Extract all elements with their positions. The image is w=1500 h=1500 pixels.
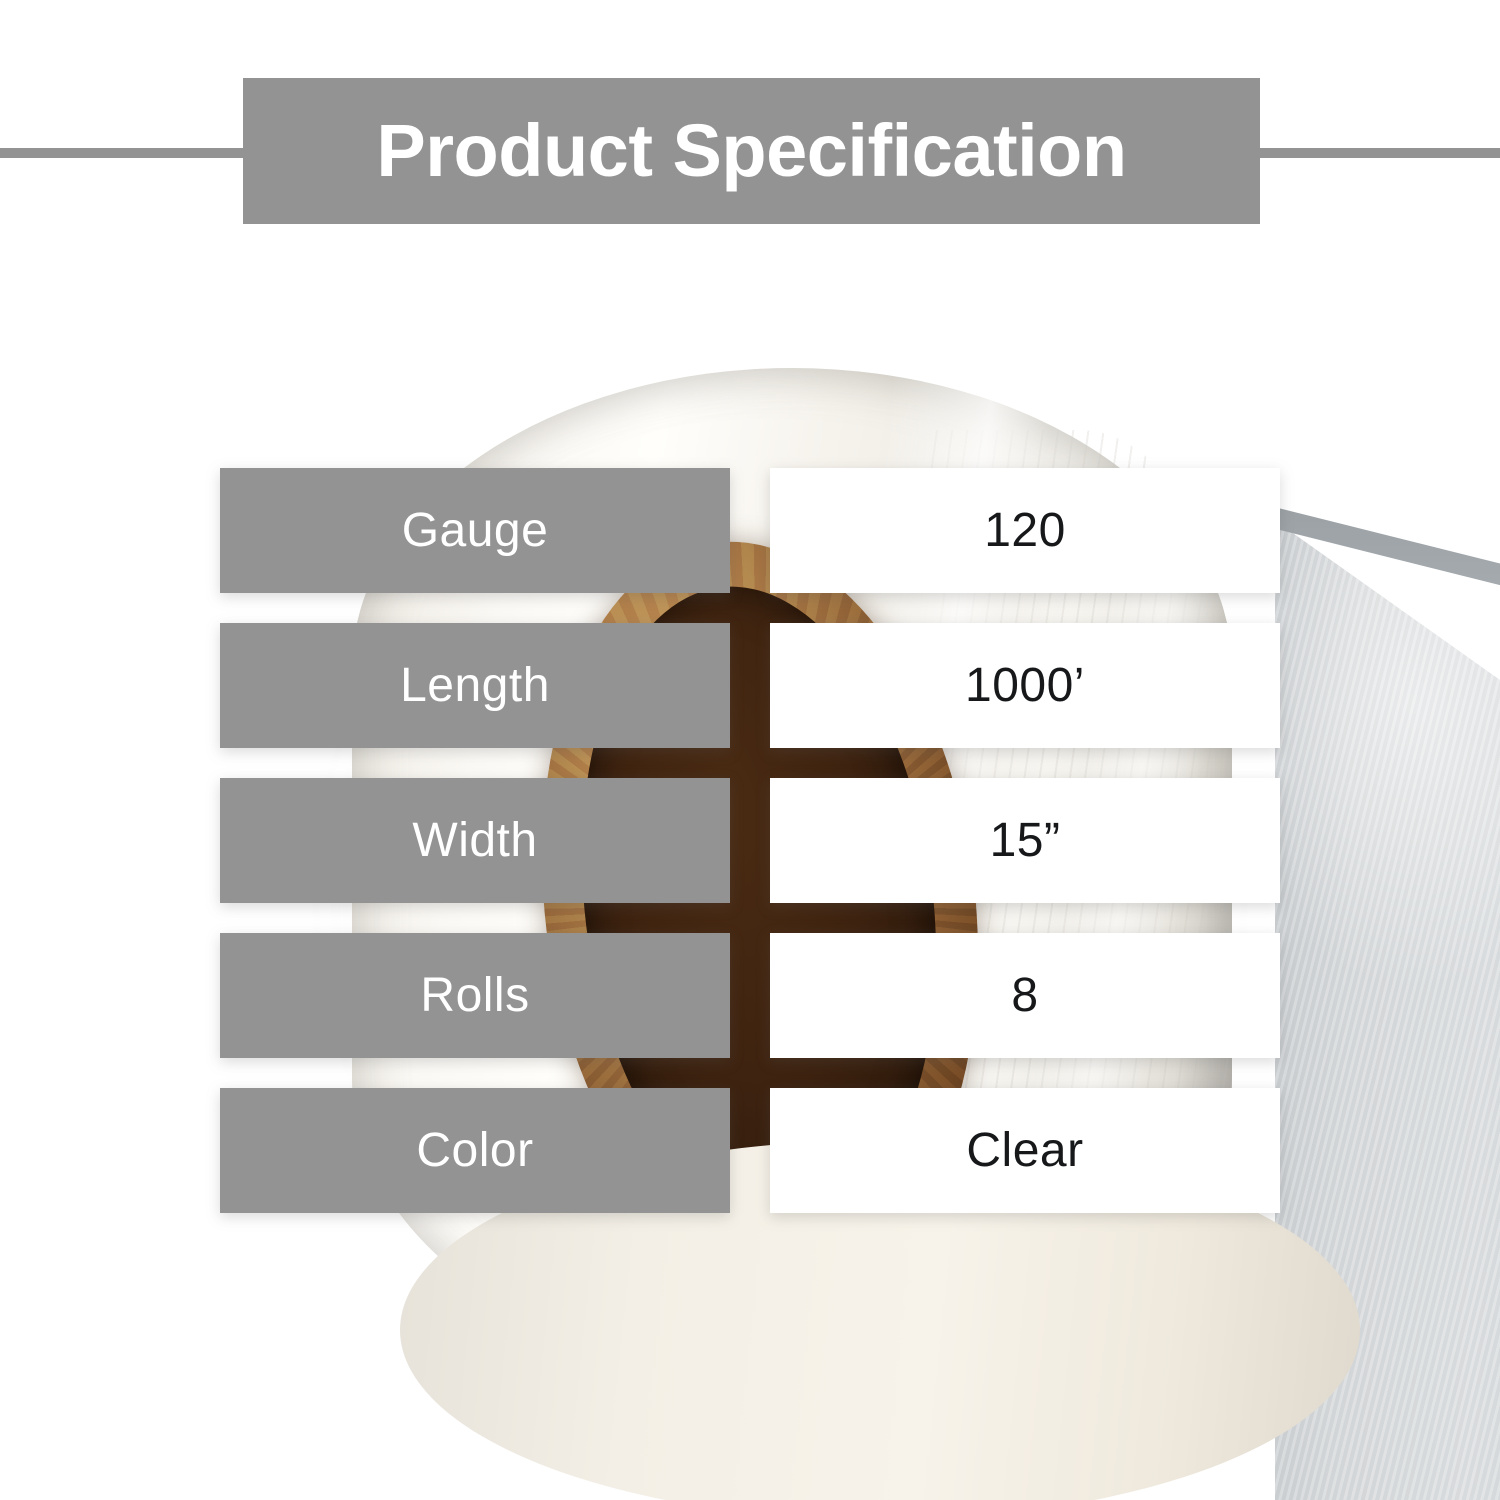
backdrop-roll-edge xyxy=(1275,500,1500,860)
page-title: Product Specification xyxy=(376,114,1126,188)
spec-value-gauge: 120 xyxy=(770,468,1280,593)
spec-value-length: 1000’ xyxy=(770,623,1280,748)
table-row: Rolls 8 xyxy=(220,933,1280,1058)
row-gap xyxy=(730,933,770,1058)
row-gap xyxy=(730,1088,770,1213)
spec-value-width: 15” xyxy=(770,778,1280,903)
title-banner: Product Specification xyxy=(243,78,1260,224)
spec-label-width: Width xyxy=(220,778,730,903)
spec-sheet-canvas: Product Specification Gauge 120 Length 1… xyxy=(0,0,1500,1500)
spec-value-rolls: 8 xyxy=(770,933,1280,1058)
table-row: Gauge 120 xyxy=(220,468,1280,593)
table-row: Length 1000’ xyxy=(220,623,1280,748)
backdrop-roll xyxy=(1275,500,1500,1500)
table-row: Color Clear xyxy=(220,1088,1280,1213)
spec-label-color: Color xyxy=(220,1088,730,1213)
row-gap xyxy=(730,623,770,748)
row-gap xyxy=(730,468,770,593)
row-gap xyxy=(730,778,770,903)
spec-label-rolls: Rolls xyxy=(220,933,730,1058)
table-row: Width 15” xyxy=(220,778,1280,903)
spec-value-color: Clear xyxy=(770,1088,1280,1213)
spec-label-gauge: Gauge xyxy=(220,468,730,593)
specification-table: Gauge 120 Length 1000’ Width 15” Rolls 8… xyxy=(220,468,1280,1213)
spec-label-length: Length xyxy=(220,623,730,748)
